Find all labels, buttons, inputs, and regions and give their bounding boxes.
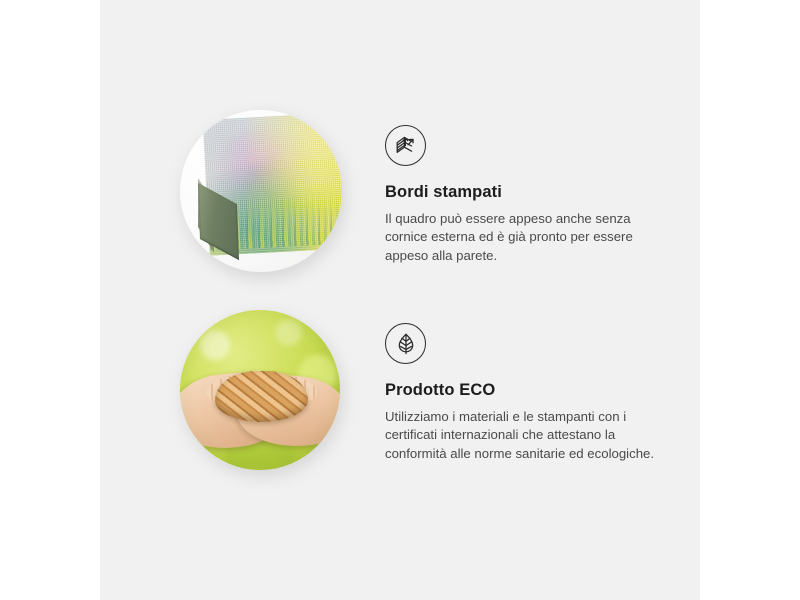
leaf-glyph — [393, 331, 419, 357]
eco-product-content: Prodotto ECO Utilizziamo i materiali e l… — [385, 323, 675, 464]
photo-vignette — [180, 310, 340, 470]
printed-edges-content: Bordi stampati Il quadro può essere appe… — [385, 125, 675, 266]
feature-description: Utilizziamo i materiali e le stampanti c… — [385, 408, 663, 464]
hands-with-wood-chips-photo — [180, 310, 340, 470]
leaf-icon — [385, 323, 426, 364]
product-feature-panel: Bordi stampati Il quadro può essere appe… — [0, 0, 800, 600]
feature-description: Il quadro può essere appeso anche senza … — [385, 210, 663, 266]
printed-edges-icon — [385, 125, 426, 166]
feature-title: Bordi stampati — [385, 183, 675, 203]
canvas-corner-photo — [180, 110, 342, 272]
feature-eco-product: Prodotto ECO Utilizziamo i materiali e l… — [100, 305, 700, 490]
info-panel-background — [100, 0, 700, 600]
feature-printed-edges: Bordi stampati Il quadro può essere appe… — [100, 105, 700, 285]
feature-title: Prodotto ECO — [385, 381, 675, 401]
printed-edges-glyph — [393, 133, 419, 159]
